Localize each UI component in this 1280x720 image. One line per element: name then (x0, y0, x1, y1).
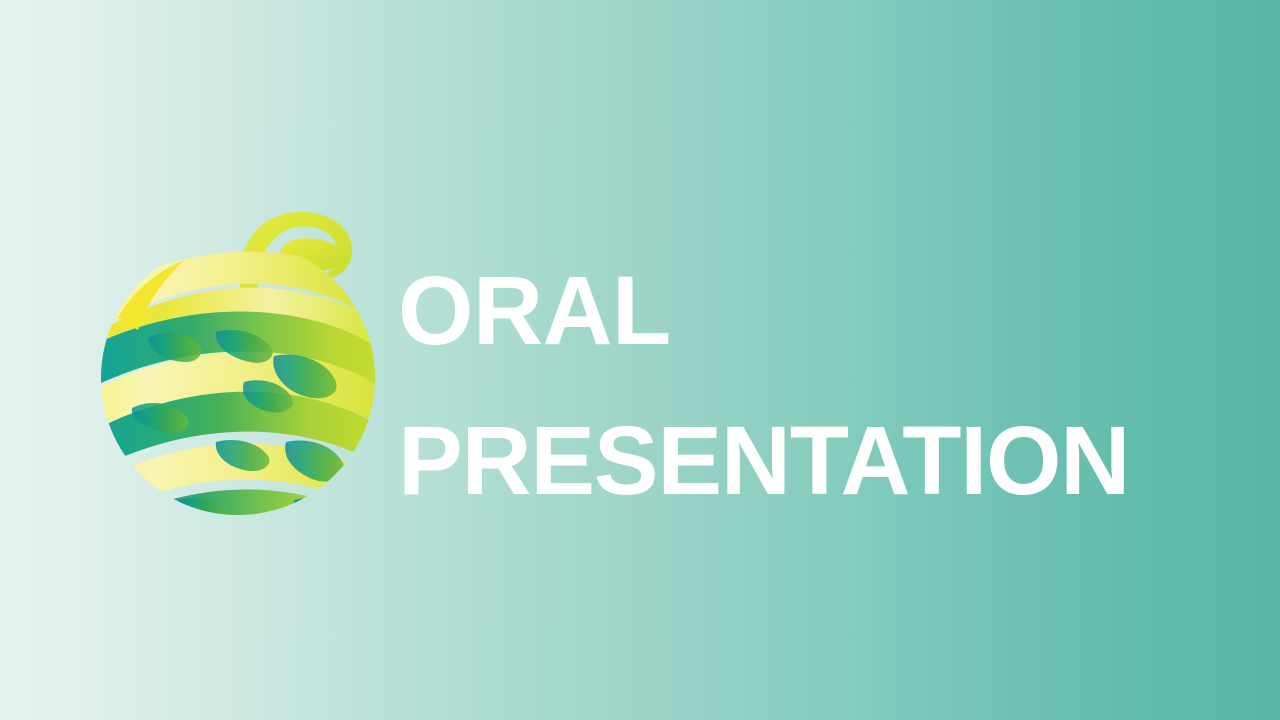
presentation-slide: ORAL PRESENTATION (0, 0, 1280, 720)
logo-globe-bands (88, 252, 388, 520)
slide-title-line-1: ORAL (398, 236, 1198, 386)
globe-ribbon-logo (88, 200, 388, 520)
slide-title-block: ORAL PRESENTATION (398, 236, 1198, 536)
slide-title-line-2: PRESENTATION (398, 386, 1198, 536)
